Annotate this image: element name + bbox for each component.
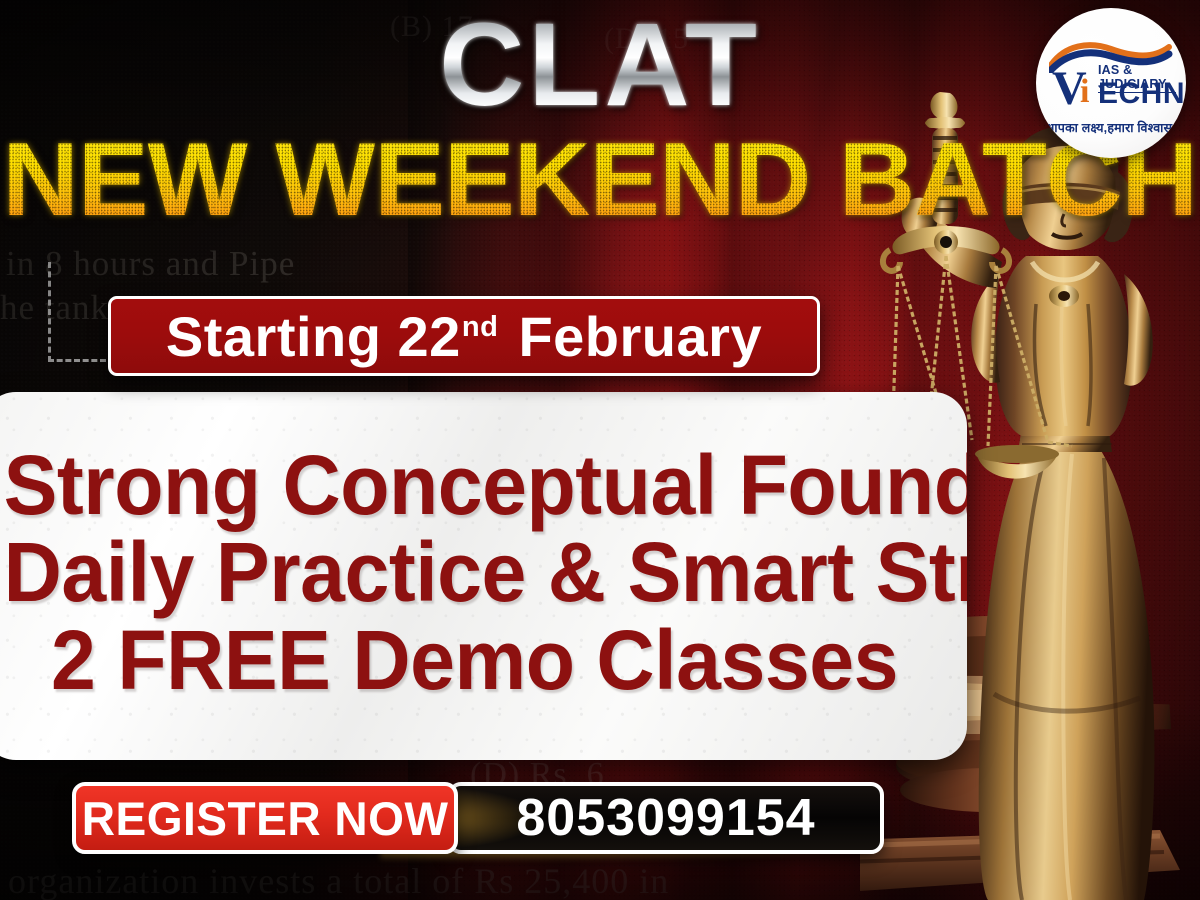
features-panel: Strong Conceptual Foundation Daily Pract… — [0, 392, 967, 760]
phone-number-text: 8053099154 — [516, 788, 815, 848]
logo-tagline: आपका लक्ष्य,हमारा विश्वास। — [1045, 119, 1177, 136]
exam-title-text: CLAT — [439, 6, 761, 124]
feature-item: Strong Conceptual Foundation — [2, 442, 948, 529]
start-date-ordinal: nd — [462, 311, 499, 343]
promo-poster: (B) 17 (D) 15 in 8 hours and Pipe he tan… — [0, 0, 1200, 900]
start-date-day: 22 — [398, 305, 461, 368]
logo-wordmark: V i IAS & JUDICIARY ECHNA — [1046, 67, 1176, 117]
start-date-month: February — [518, 305, 762, 368]
start-date-text: Starting 22nd February — [166, 304, 762, 369]
cta-bar: REGISTER NOW 8053099154 — [72, 782, 884, 854]
exam-title: CLAT — [0, 6, 1200, 124]
start-date-banner: Starting 22nd February — [108, 296, 820, 376]
vivechna-logo[interactable]: V i IAS & JUDICIARY ECHNA आपका लक्ष्य,हम… — [1036, 8, 1186, 158]
logo-letter-i: i — [1080, 75, 1089, 109]
headline: NEW WEEKEND BATCH — [0, 128, 1200, 232]
start-date-prefix: Starting — [166, 305, 382, 368]
logo-word-rest: ECHNA — [1098, 79, 1186, 109]
phone-number-panel[interactable]: 8053099154 — [448, 782, 884, 854]
headline-text: NEW WEEKEND BATCH — [3, 128, 1198, 232]
register-now-label: REGISTER NOW — [82, 791, 449, 846]
feature-item: 2 FREE Demo Classes — [2, 617, 948, 704]
feature-item: Daily Practice & Smart Strategy — [2, 529, 948, 616]
register-now-button[interactable]: REGISTER NOW — [72, 782, 458, 854]
